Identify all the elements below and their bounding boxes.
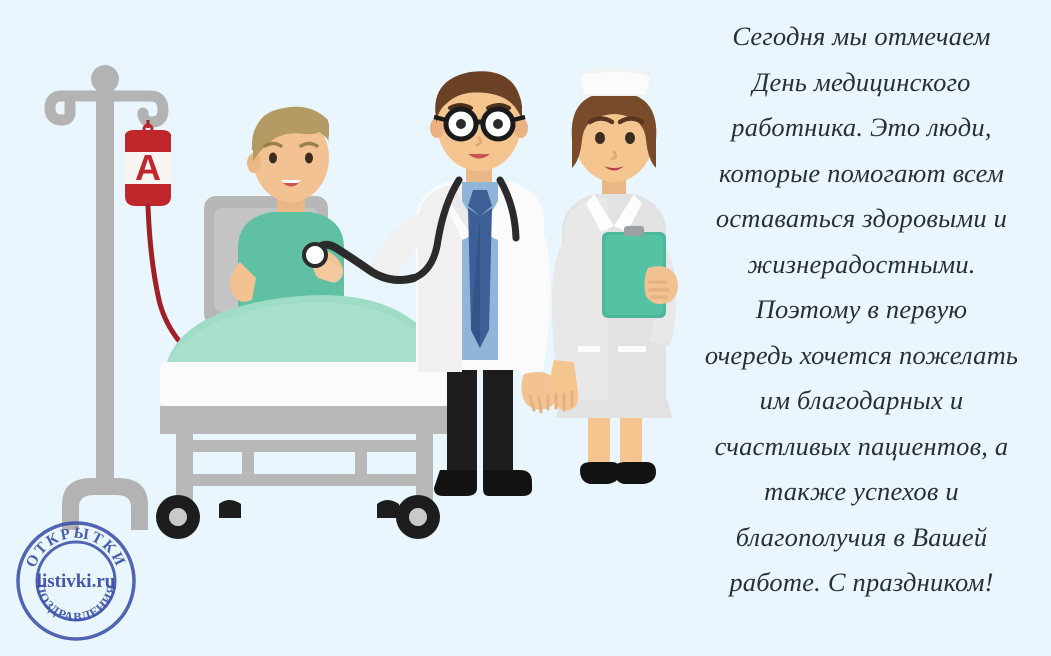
stethoscope-chestpiece [304, 244, 326, 266]
greeting-line: которые помогают всем [719, 151, 1004, 197]
greeting-line: также успехов и [764, 469, 959, 515]
stamp-top-arc-text: ОТКРЫТКИ [23, 524, 130, 570]
doctor-shoe [483, 470, 532, 496]
greeting-card: A [0, 0, 1051, 656]
greeting-line: работника. Это люди, [731, 105, 991, 151]
greeting-line: жизнерадостными. [747, 242, 975, 288]
greeting-line: День медицинского [752, 60, 970, 106]
watermark-stamp: ОТКРЫТКИ ПОЗДРАВЛЕНИЯ listivki.ru [10, 515, 142, 647]
bed-frame [156, 362, 450, 539]
greeting-line: им благодарных и [760, 378, 964, 424]
greeting-line: оставаться здоровыми и [716, 196, 1007, 242]
doctor-shoe [434, 470, 477, 496]
watermark-stamp-svg: ОТКРЫТКИ ПОЗДРАВЛЕНИЯ listivki.ru [10, 515, 142, 647]
greeting-line: Сегодня мы отмечаем [732, 14, 990, 60]
stamp-center-text: listivki.ru [37, 571, 116, 592]
nurse-shoe [580, 462, 620, 484]
greeting-line: благополучия в Вашей [736, 515, 988, 561]
greeting-line: очередь хочется пожелать [705, 333, 1018, 379]
nurse-shoe [614, 462, 656, 484]
greeting-text-block: Сегодня мы отмечаем День медицинского ра… [672, 14, 1051, 614]
greeting-line: Поэтому в первую [756, 287, 968, 333]
greeting-line: счастливых пациентов, а [715, 424, 1009, 470]
nurse-cap [578, 68, 652, 96]
clipboard-clip [624, 226, 644, 236]
greeting-line: работе. С праздником! [729, 560, 993, 606]
blood-type-label: A [135, 147, 161, 188]
nurse [550, 68, 678, 484]
